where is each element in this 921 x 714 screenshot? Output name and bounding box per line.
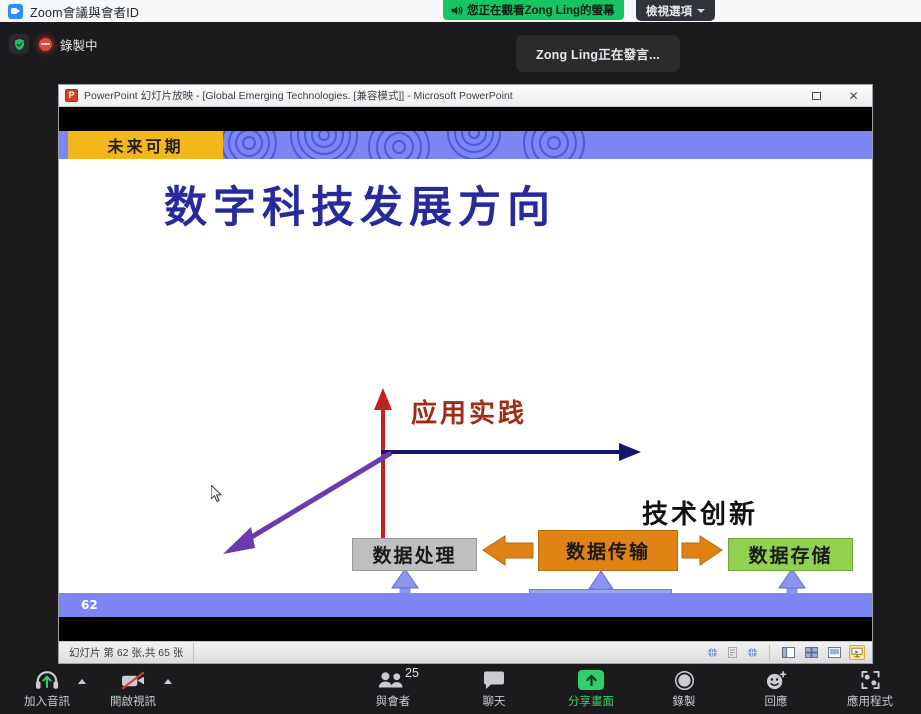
active-speaker-chip: Zong Ling正在發言... [516, 35, 680, 72]
zoom-bottom-toolbar: 加入音訊 開啟視訊 [0, 664, 921, 714]
share-screen-icon [578, 669, 604, 691]
reactions-button[interactable]: 回應 [747, 665, 805, 713]
vertical-axis-arrowhead [374, 388, 392, 410]
data-processing-box: 数据处理 [352, 538, 477, 571]
slide-page-number: 62 [81, 598, 98, 612]
zoom-app-icon [8, 4, 23, 19]
audio-options-caret[interactable] [76, 665, 90, 713]
record-label: 錄製 [673, 693, 696, 709]
maximize-button[interactable] [798, 85, 835, 106]
reactions-smiley-icon [765, 669, 788, 691]
ripple-pattern [209, 131, 629, 159]
share-screen-button[interactable]: 分享畫面 [557, 665, 625, 713]
close-icon: ✕ [848, 90, 858, 102]
horizontal-axis-arrowhead [619, 443, 641, 461]
slideshow-icon[interactable] [849, 645, 865, 660]
chat-label: 聊天 [483, 693, 506, 709]
horizontal-axis-line [381, 450, 625, 454]
video-off-icon [120, 669, 147, 691]
apps-button[interactable]: 應用程式 [835, 665, 905, 713]
zoom-header-bar: 錄製中 [0, 22, 921, 66]
reactions-label: 回應 [765, 693, 788, 709]
letterbox-top [59, 107, 872, 131]
chevron-down-icon [697, 9, 705, 13]
powerpoint-icon: P [65, 89, 78, 102]
mouse-cursor [211, 485, 223, 503]
video-options-caret[interactable] [162, 665, 176, 713]
slide-count-status: 幻灯片 第 62 张,共 65 张 [59, 643, 194, 663]
maximize-icon [812, 92, 821, 100]
slide-content: 未来可期 数字科技发展方向 应用实践 技术创新 管理规范 [59, 131, 872, 617]
apps-label: 應用程式 [847, 693, 893, 709]
slide-page-footer: 62 [59, 593, 872, 617]
slide-banner-tag-text: 未来可期 [107, 133, 183, 157]
chevron-up-icon [78, 679, 86, 684]
status-divider [769, 645, 770, 660]
screenshare-notice: 您正在觀看Zong Ling的螢幕 [443, 0, 624, 20]
zoom-window-title: Zoom會議與會者ID [30, 2, 139, 21]
join-audio-label: 加入音訊 [24, 693, 70, 709]
participants-button[interactable]: 與會者 25 [357, 665, 429, 713]
share-screen-label: 分享畫面 [568, 693, 614, 709]
headset-arrow-up-icon [35, 669, 59, 691]
participants-count: 25 [405, 666, 419, 680]
powerpoint-window: P PowerPoint 幻灯片放映 - [Global Emerging Te… [58, 84, 873, 664]
zoom-meeting-window: Zoom會議與會者ID 您正在觀看Zong Ling的螢幕 檢視選項 錄製中 Z… [0, 0, 921, 714]
participants-label: 與會者 [376, 693, 411, 709]
slide-banner: 未来可期 [59, 131, 872, 159]
slide-banner-tag: 未来可期 [68, 131, 223, 159]
slideshow-canvas[interactable]: 未来可期 数字科技发展方向 应用实践 技术创新 管理规范 [59, 107, 872, 641]
reading-view-icon[interactable] [826, 645, 842, 660]
slide-sorter-icon[interactable] [803, 645, 819, 660]
screenshare-notice-text: 您正在觀看Zong Ling的螢幕 [467, 2, 615, 18]
chevron-up-icon [164, 679, 172, 684]
start-video-button[interactable]: 開啟視訊 [104, 665, 162, 713]
recording-label: 錄製中 [60, 35, 98, 54]
close-button[interactable]: ✕ [835, 85, 872, 106]
data-storage-box: 数据存储 [728, 538, 853, 571]
globe-icon[interactable] [746, 646, 759, 659]
powerpoint-status-bar: 幻灯片 第 62 张,共 65 张 [59, 641, 872, 663]
chat-button[interactable]: 聊天 [465, 665, 523, 713]
language-icon[interactable] [726, 646, 739, 659]
start-video-label: 開啟視訊 [110, 693, 156, 709]
slide-title: 数字科技发展方向 [164, 173, 556, 235]
speaker-icon [450, 4, 463, 17]
record-button[interactable]: 錄製 [655, 665, 713, 713]
horizontal-axis-label: 技术创新 [642, 494, 758, 531]
recording-indicator[interactable]: 錄製中 [39, 35, 98, 54]
powerpoint-title-text: PowerPoint 幻灯片放映 - [Global Emerging Tech… [84, 88, 513, 103]
letterbox-bottom [59, 617, 872, 641]
normal-view-icon[interactable] [780, 645, 796, 660]
chat-bubble-icon [482, 669, 506, 691]
vertical-axis-label: 应用实践 [411, 393, 527, 430]
view-options-label: 檢視選項 [646, 3, 692, 19]
recording-dot-icon [39, 38, 52, 51]
record-circle-icon [674, 669, 695, 691]
join-audio-button[interactable]: 加入音訊 [18, 665, 76, 713]
powerpoint-title-bar[interactable]: P PowerPoint 幻灯片放映 - [Global Emerging Te… [59, 85, 872, 107]
data-transmission-box: 数据传输 [538, 530, 678, 571]
view-options-button[interactable]: 檢視選項 [636, 0, 715, 21]
globe-icon[interactable] [706, 646, 719, 659]
apps-bracket-icon [859, 669, 882, 691]
shield-check-icon[interactable] [9, 34, 29, 54]
